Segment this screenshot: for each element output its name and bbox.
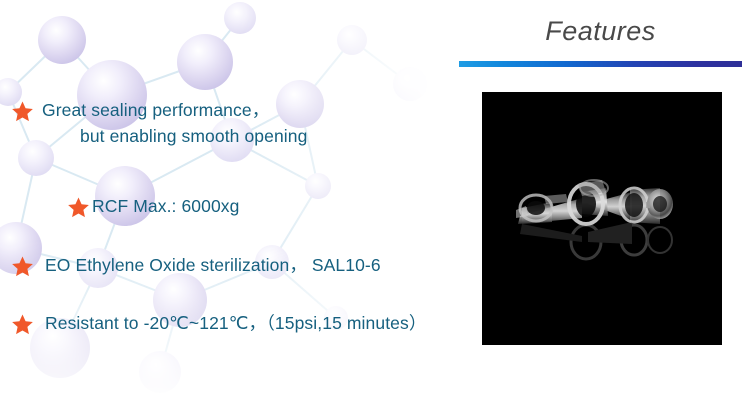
feature-bullet-list: Great sealing performance，but enabling s… [0, 0, 520, 400]
list-item: Resistant to -20℃~121℃，（15psi,15 minutes… [11, 310, 426, 336]
list-item-text: RCF Max.: 6000xg [90, 193, 240, 219]
list-item-text: Great sealing performance，but enabling s… [34, 97, 307, 149]
list-item-text: Resistant to -20℃~121℃，（15psi,15 minutes… [34, 310, 426, 336]
list-item: EO Ethylene Oxide sterilization， SAL10-6 [11, 252, 381, 278]
star-icon [11, 255, 34, 278]
list-item-line2: but enabling smooth opening [42, 123, 307, 149]
star-icon [11, 100, 34, 123]
list-item-line1: Great sealing performance， [42, 100, 269, 120]
star-icon [67, 196, 90, 219]
list-item: Great sealing performance，but enabling s… [11, 97, 307, 149]
list-item-text: EO Ethylene Oxide sterilization， SAL10-6 [34, 252, 381, 278]
microcentrifuge-tubes-photo [482, 92, 722, 345]
list-item: RCF Max.: 6000xg [67, 193, 240, 219]
slide-canvas: Features Great sealing performance，but e… [0, 0, 750, 400]
star-icon [11, 313, 34, 336]
